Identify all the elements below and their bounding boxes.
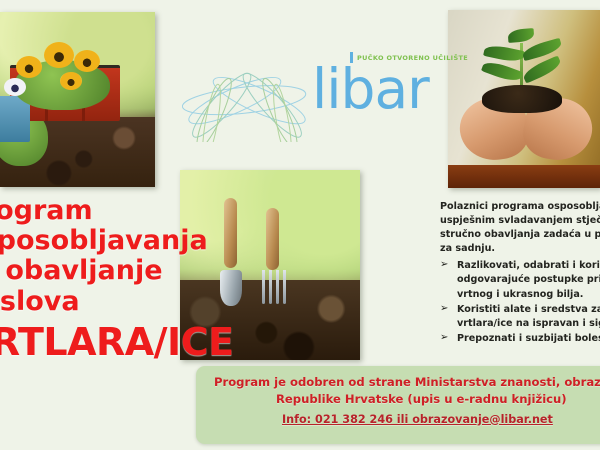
poster-canvas: PUČKO OTVORENO UČILIŠTE libar Program os… [0,0,600,450]
headline-line-2: osposobljavanja [0,226,192,256]
soil-handful [482,85,562,113]
headline-line-1: Program [0,196,192,226]
pansy-flowers-photo [0,12,155,187]
fork-handle [266,208,279,270]
headline-line-4: poslova [0,287,192,317]
flower-petal-fan-icon [182,50,312,142]
orange-base-band [448,165,600,188]
contact-info[interactable]: Info: 021 382 246 ili obrazovanje@libar.… [196,412,600,428]
intro-line: Polaznici programa osposoblja [440,200,600,214]
list-item: ➢ Koristiti alate i sredstva za p vrtlar… [440,303,600,331]
pansy-bloom [60,72,82,90]
arrow-bullet-icon: ➢ [440,302,448,317]
hands-seedling-photo [448,10,600,188]
list-item: ➢ Razlikovati, odabrati i koris odgovara… [440,259,600,301]
bullet-line: vrtlara/ice na ispravan i sig [457,317,600,331]
logo-wordmark: libar [312,62,429,117]
arrow-bullet-icon: ➢ [440,258,448,273]
trowel-blade [220,270,242,306]
headline-line-5: VRTLARA/ICE [0,321,192,364]
intro-line: za sadnju. [440,242,600,256]
pansy-bloom [44,42,74,68]
intro-paragraph: Polaznici programa osposoblja uspješnim … [440,200,600,256]
banner-line-1: Program je odobren od strane Ministarstv… [196,366,600,391]
bullet-line: Koristiti alate i sredstva za p [457,303,600,317]
fork-tines [262,270,288,304]
libar-logo: PUČKO OTVORENO UČILIŠTE libar [182,48,442,148]
bullet-line: vrtnog i ukrasnog bilja. [457,288,600,302]
banner-line-2: Republike Hrvatske (upis u e-radnu knjiž… [196,391,600,408]
intro-line: stručno obavljanja zadaća u pri [440,228,600,242]
approval-banner: Program je odobren od strane Ministarstv… [196,366,600,444]
headline-line-3: za obavljanje [0,256,192,286]
pansy-bloom [74,50,100,72]
program-description: Polaznici programa osposoblja uspješnim … [440,200,600,347]
list-item: ➢ Prepoznati i suzbijati bolest [440,332,600,346]
bullet-line: Prepoznati i suzbijati bolest [457,332,600,346]
page-title: Program osposobljavanja za obavljanje po… [0,196,192,363]
intro-line: uspješnim svladavanjem stječu [440,214,600,228]
trowel-handle [224,198,237,268]
bullet-line: odgovarajuće postupke pri [457,273,600,287]
pansy-bloom-white [4,78,26,96]
bullet-line: Razlikovati, odabrati i koris [457,259,600,273]
pansy-bloom [16,56,42,78]
arrow-bullet-icon: ➢ [440,331,448,346]
outcomes-list: ➢ Razlikovati, odabrati i koris odgovara… [440,259,600,346]
